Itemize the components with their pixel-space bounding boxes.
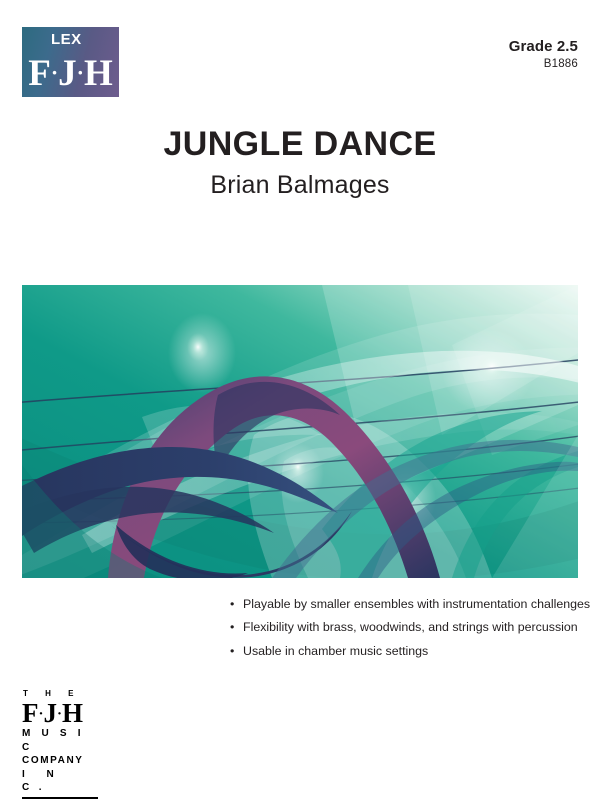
publisher-logo: T H E F·J·H M U S I C COMPANY I N C. Fra…	[22, 690, 100, 800]
catalog-number: B1886	[509, 57, 578, 72]
publisher-line-inc: I N C.	[22, 768, 100, 795]
flex-logo-word: LEX	[51, 32, 82, 47]
artwork-svg	[22, 285, 578, 578]
publisher-line-music: M U S I C	[22, 727, 100, 754]
grade-block: Grade 2.5 B1886	[509, 38, 578, 72]
list-item: • Flexibility with brass, woodwinds, and…	[230, 621, 590, 633]
bullet-icon: •	[230, 598, 234, 610]
grade-label: Grade 2.5	[509, 38, 578, 55]
publisher-the: T H E	[23, 690, 100, 698]
title-block: JUNGLE DANCE Brian Balmages	[0, 127, 600, 198]
list-item-label: Usable in chamber music settings	[243, 644, 428, 658]
page-title: JUNGLE DANCE	[0, 127, 600, 161]
bullet-icon: •	[230, 645, 234, 657]
list-item-label: Flexibility with brass, woodwinds, and s…	[243, 620, 578, 634]
publisher-divider	[22, 797, 98, 799]
list-item: • Usable in chamber music settings	[230, 645, 590, 657]
cover-artwork	[22, 285, 578, 578]
cover-page: LEX F·J·H Grade 2.5 B1886 JUNGLE DANCE B…	[0, 0, 600, 800]
flex-logo-initials: F·J·H	[22, 55, 119, 92]
publisher-line-company: COMPANY	[22, 754, 100, 768]
composer-name: Brian Balmages	[0, 173, 600, 198]
list-item: • Playable by smaller ensembles with ins…	[230, 598, 590, 610]
list-item-label: Playable by smaller ensembles with instr…	[243, 597, 590, 611]
feature-list: • Playable by smaller ensembles with ins…	[230, 598, 590, 668]
bullet-icon: •	[230, 621, 234, 633]
publisher-initials: F·J·H	[22, 700, 100, 727]
fjh-flex-logo: LEX F·J·H	[22, 27, 119, 97]
